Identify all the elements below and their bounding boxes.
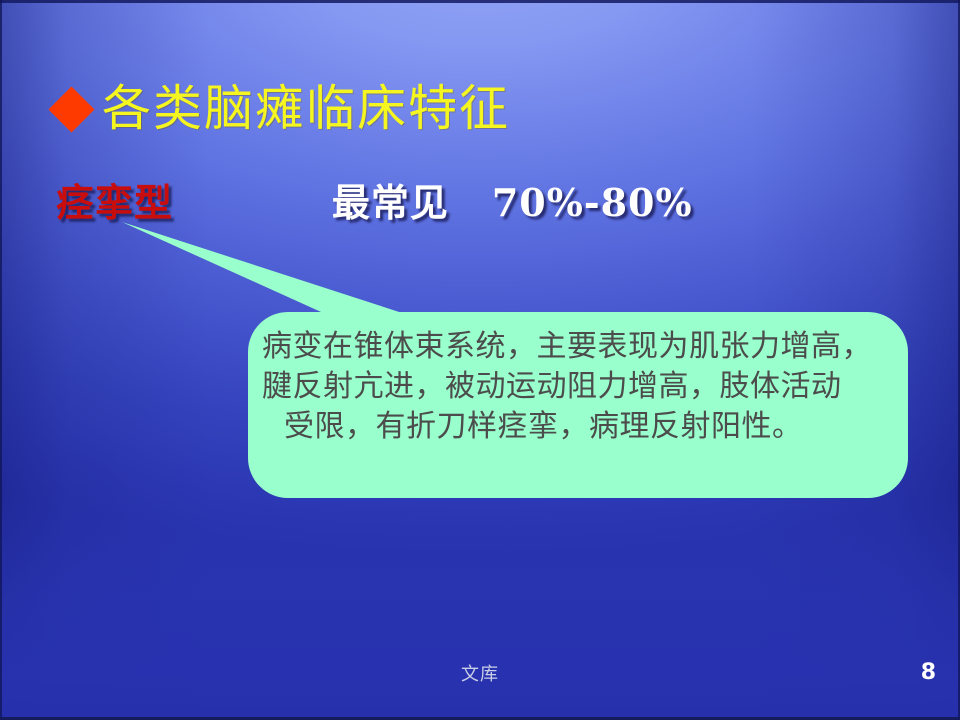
percentage-label: 70%-80% (492, 180, 693, 225)
page-number: 8 (921, 660, 936, 685)
callout-text: 病变在锥体束系统，主要表现为肌张力增高， 腱反射亢进，被动运动阻力增高，肢体活动… (262, 327, 902, 447)
cp-type-label: 痉挛型 (56, 181, 173, 225)
frequency-label: 最常见 (332, 180, 449, 225)
callout-line-3: 受限，有折刀样痉挛，病理反射阳性。 (262, 407, 902, 447)
slide-border-left (0, 0, 2, 720)
subtitle-row: 痉挛型 最常见 70%-80% (56, 172, 916, 227)
callout-line-2: 腱反射亢进，被动运动阻力增高，肢体活动 (262, 367, 902, 407)
diamond-cluster-bullet-icon (52, 89, 92, 129)
callout-line-1: 病变在锥体束系统，主要表现为肌张力增高， (262, 327, 902, 367)
page-title: 各类脑瘫临床特征 (102, 84, 510, 133)
slide-border-top (0, 0, 960, 3)
slide-title-row: 各类脑瘫临床特征 (52, 84, 510, 133)
footer-brand: 文库 (0, 660, 960, 686)
slide-canvas: 各类脑瘫临床特征 痉挛型 最常见 70%-80% 病变在锥体束系统，主要表现为肌… (0, 0, 960, 720)
